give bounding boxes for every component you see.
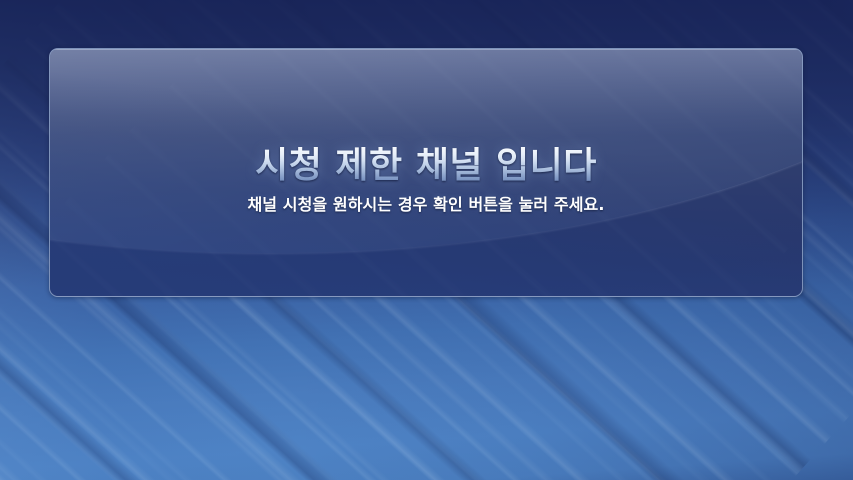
tv-osd-screen: 시청 제한 채널 입니다 채널 시청을 원하시는 경우 확인 버튼을 눌러 주세… <box>0 0 853 480</box>
dialog-text-block: 시청 제한 채널 입니다 채널 시청을 원하시는 경우 확인 버튼을 눌러 주세… <box>50 147 802 214</box>
dialog-title: 시청 제한 채널 입니다 <box>50 147 802 185</box>
panel-inner-top-edge <box>50 49 802 50</box>
restricted-channel-dialog-panel: 시청 제한 채널 입니다 채널 시청을 원하시는 경우 확인 버튼을 눌러 주세… <box>49 48 803 297</box>
panel-top-highlight <box>50 49 802 135</box>
dialog-subtitle: 채널 시청을 원하시는 경우 확인 버튼을 눌러 주세요. <box>50 195 802 214</box>
